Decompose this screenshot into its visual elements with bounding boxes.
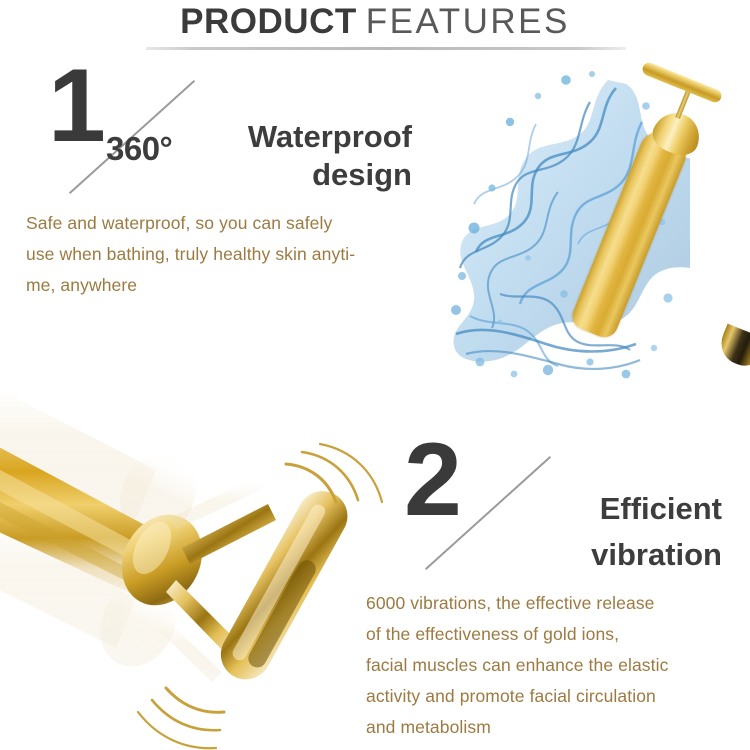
- feature-2-body-line: 6000 vibrations, the effective release: [366, 588, 668, 619]
- vibrating-t-head-graphic: [0, 352, 386, 750]
- feature-1-body-line: me, anywhere: [26, 270, 355, 301]
- feature-2-body-line: of the effectiveness of gold ions,: [366, 619, 668, 650]
- feature-2-number: 2: [404, 428, 460, 532]
- feature-1-headline: Waterproof design: [186, 118, 412, 194]
- feature-2-body-line: activity and promote facial circulation: [366, 681, 668, 712]
- product-features-infographic: PRODUCTFEATURES: [0, 0, 750, 750]
- feature-1-body-line: Safe and waterproof, so you can safely: [26, 208, 355, 239]
- page-title-bold: PRODUCT: [180, 2, 357, 41]
- page-header: PRODUCTFEATURES: [0, 0, 750, 56]
- feature-2-body-line: and metabolism: [366, 712, 668, 743]
- page-title: PRODUCTFEATURES: [0, 2, 750, 49]
- feature-1-headline-line2: design: [312, 157, 412, 192]
- feature-2-body-line: facial muscles can enhance the elastic: [366, 650, 668, 681]
- feature-1-body-line: use when bathing, truly healthy skin any…: [26, 239, 355, 270]
- feature-2-headline: Efficient vibration: [500, 486, 722, 578]
- product-image-waterproof: [438, 52, 750, 392]
- gold-bar-tip: [715, 324, 750, 372]
- title-divider: [146, 47, 626, 50]
- gold-bar-device: [618, 74, 750, 374]
- feature-1-number: 1: [48, 54, 104, 158]
- feature-1-headline-line1: Waterproof: [248, 119, 412, 154]
- page-title-light: FEATURES: [366, 2, 570, 41]
- feature-1-eyebrow: 360°: [106, 130, 172, 168]
- feature-2-headline-line1: Efficient: [600, 491, 722, 526]
- feature-2-headline-line2: vibration: [591, 537, 722, 572]
- feature-1-body: Safe and waterproof, so you can safely u…: [26, 208, 355, 301]
- feature-2-body: 6000 vibrations, the effective release o…: [366, 588, 668, 743]
- product-image-vibration: [0, 352, 386, 750]
